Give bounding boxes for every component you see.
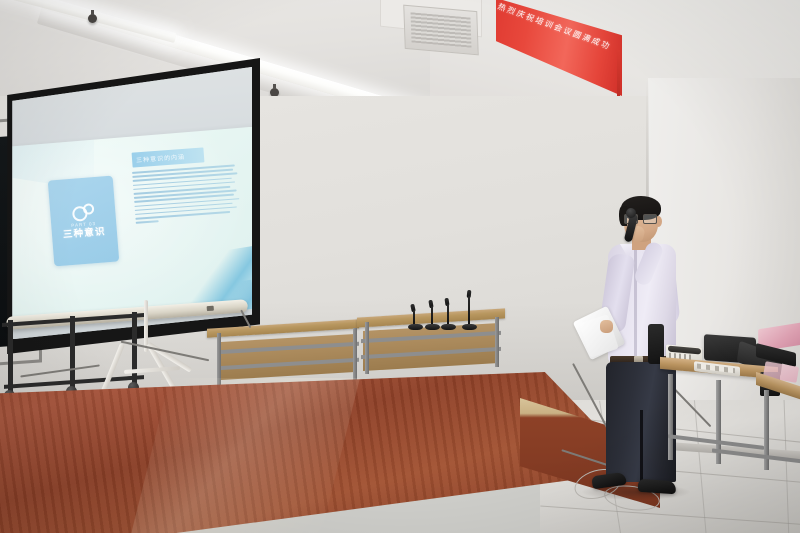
banner-cloth: 热烈庆祝培训会议圆满成功: [496, 0, 622, 96]
slide-icon-tile: PART 03 三种意识: [47, 175, 118, 266]
air-vent-icon: [403, 5, 478, 56]
power-strip-sockets: [697, 364, 735, 374]
photo-scene: 热烈庆祝培训会议圆满成功 PART 03 三种意: [0, 0, 800, 533]
microphone-group: [408, 286, 488, 332]
stage-reflection: [130, 378, 360, 533]
gooseneck-microphone-3: [441, 298, 459, 330]
presenter-hand-holding-notes: [600, 320, 613, 333]
shirt-placket: [634, 248, 637, 356]
gooseneck-microphone-1: [408, 304, 426, 330]
projected-slide: PART 03 三种意识 三种意识的内涵: [12, 127, 252, 323]
gear-icon: [71, 203, 94, 220]
trouser-leg-split: [640, 410, 643, 484]
table-modesty-panel-left: [219, 334, 357, 380]
slide-heading-text: 三种意识的内涵: [136, 152, 186, 165]
equipment-desk: [660, 328, 800, 498]
slide-icon-title: 三种意识: [62, 226, 106, 240]
sprinkler-head-icon: [88, 14, 97, 23]
gooseneck-microphone-4: [462, 290, 480, 330]
